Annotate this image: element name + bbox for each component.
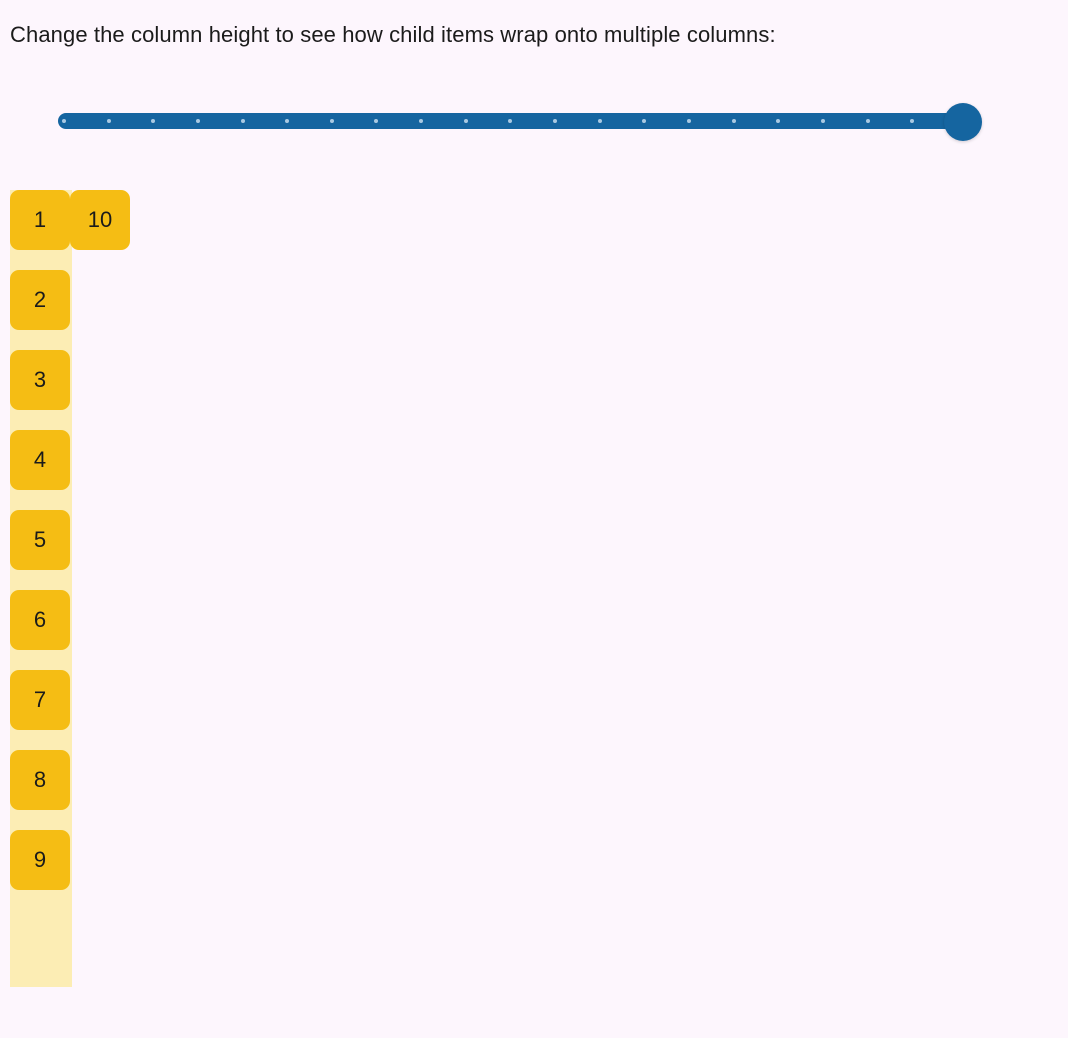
- flex-item-label: 7: [34, 687, 46, 713]
- flex-item: 4: [10, 430, 70, 490]
- page-heading: Change the column height to see how chil…: [10, 20, 776, 50]
- flex-item-label: 1: [34, 207, 46, 233]
- column-height-slider[interactable]: [58, 101, 983, 141]
- flex-item: 1: [10, 190, 70, 250]
- wrapping-column-container: 12345678910: [10, 190, 72, 987]
- flex-item: 2: [10, 270, 70, 330]
- flex-item-label: 2: [34, 287, 46, 313]
- flex-item: 7: [10, 670, 70, 730]
- flex-item-label: 5: [34, 527, 46, 553]
- flex-item: 3: [10, 350, 70, 410]
- slider-track[interactable]: [58, 113, 963, 129]
- flex-item-label: 6: [34, 607, 46, 633]
- slider-thumb[interactable]: [944, 103, 982, 141]
- flex-item: 5: [10, 510, 70, 570]
- flex-item-label: 3: [34, 367, 46, 393]
- flex-item-label: 9: [34, 847, 46, 873]
- flex-item: 6: [10, 590, 70, 650]
- flex-item: 10: [70, 190, 130, 250]
- flex-item-label: 10: [88, 207, 112, 233]
- flex-item: 9: [10, 830, 70, 890]
- flex-item: 8: [10, 750, 70, 810]
- flex-item-label: 8: [34, 767, 46, 793]
- flex-item-label: 4: [34, 447, 46, 473]
